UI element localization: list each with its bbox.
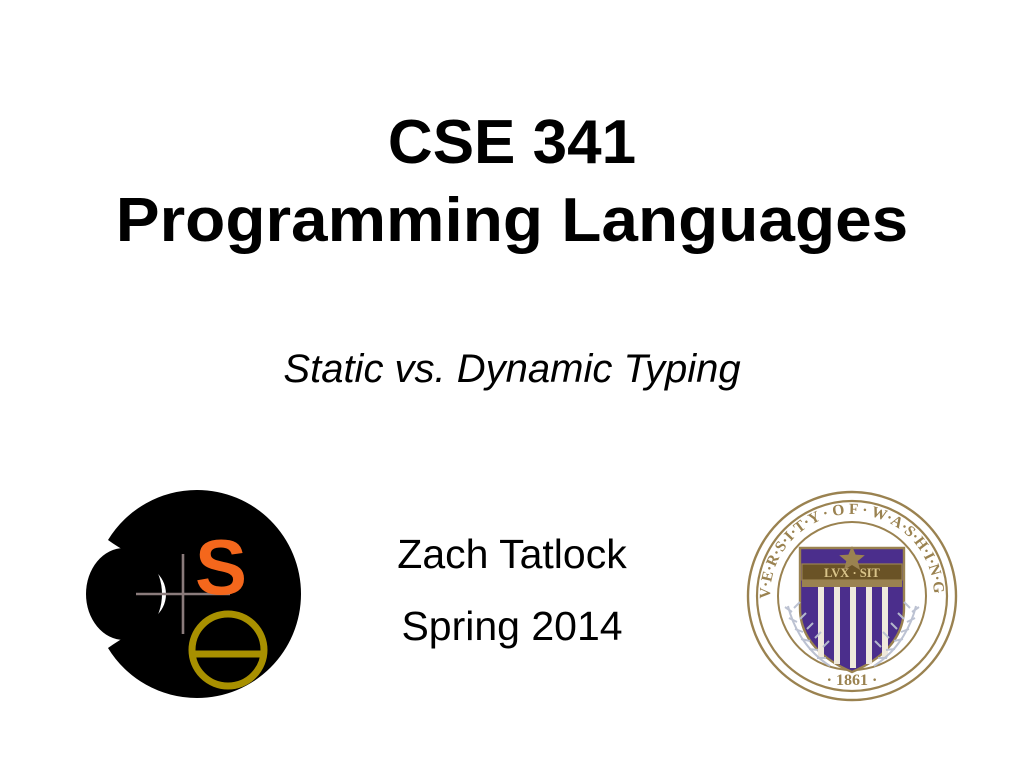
seal-shield-capital-band (802, 580, 902, 587)
slide-canvas: CSE 341 Programming Languages Static vs.… (0, 0, 1024, 768)
title-line-course-name: Programming Languages (0, 182, 1024, 260)
slide-title: CSE 341 Programming Languages (0, 104, 1024, 260)
uw-cse-logo: S (78, 482, 302, 706)
university-of-washington-seal: U·N·I·V·E·R·S·I·T·Y · O F · W·A·S·H·I·N·… (744, 488, 960, 704)
title-line-course-code: CSE 341 (0, 104, 1024, 182)
slide-subtitle: Static vs. Dynamic Typing (0, 345, 1024, 393)
author-name: Zach Tatlock (312, 518, 712, 590)
author-term: Spring 2014 (312, 590, 712, 662)
seal-ring-text-year: · 1861 · (827, 672, 878, 689)
svg-text:· 1861 ·: · 1861 · (827, 672, 878, 689)
seal-motto-text: LVX · SIT (824, 566, 880, 580)
author-block: Zach Tatlock Spring 2014 (312, 518, 712, 662)
cse-logo-letter-s: S (195, 523, 247, 611)
